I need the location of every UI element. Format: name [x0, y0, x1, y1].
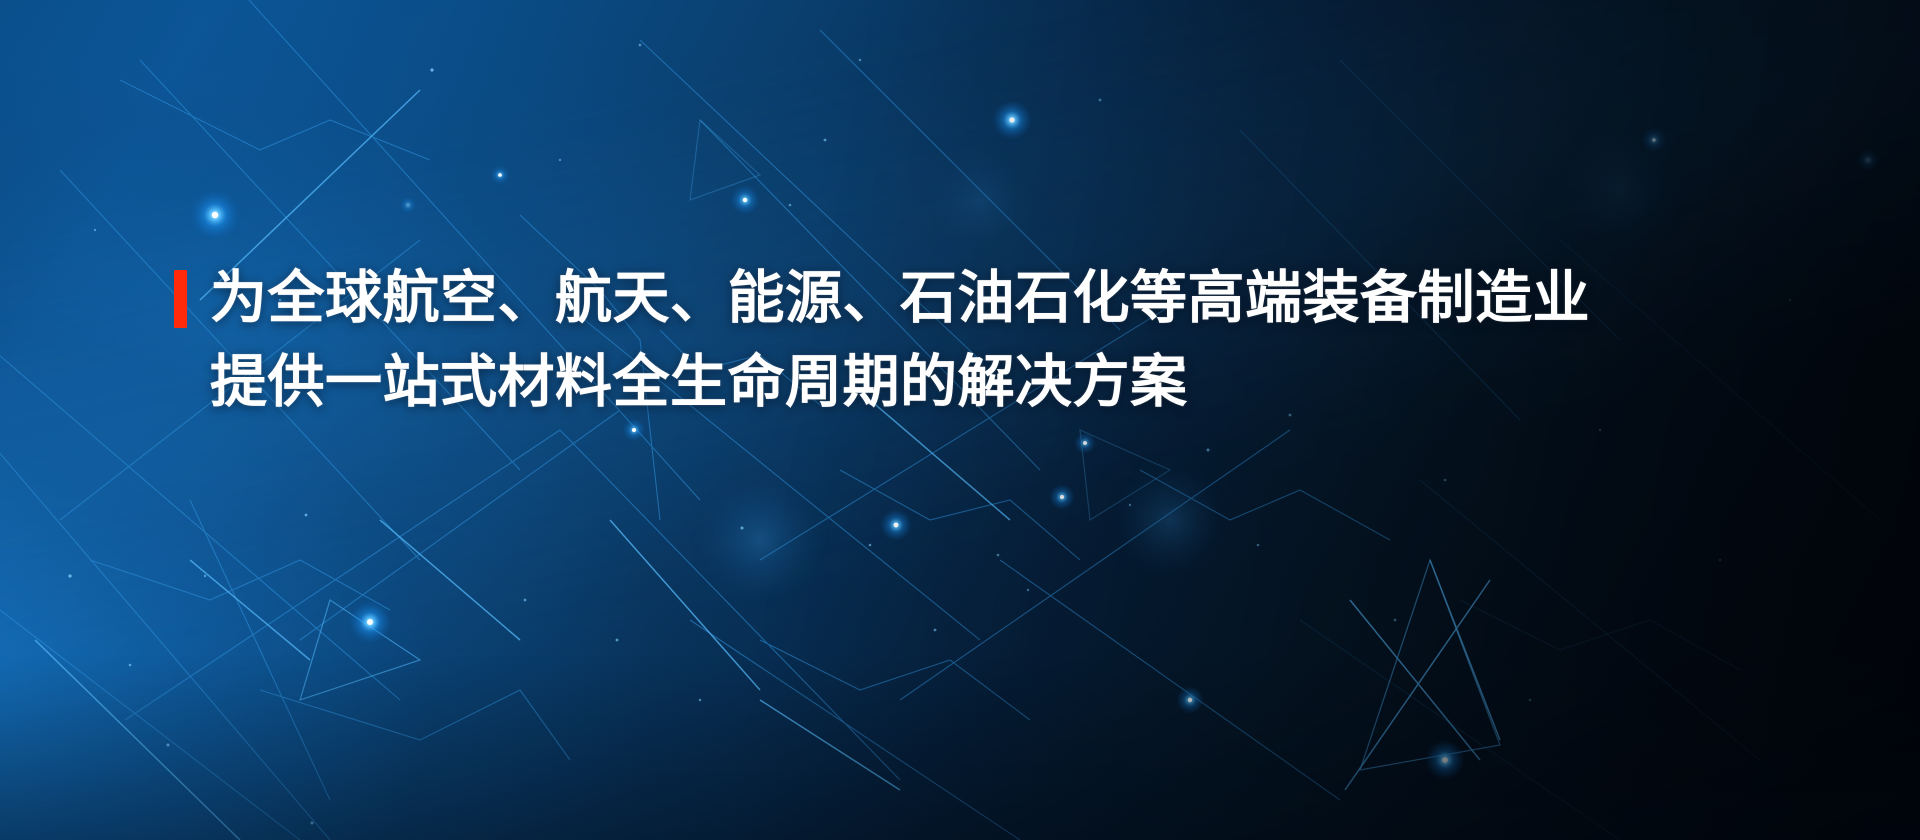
- headline-line-2-row: 提供一站式材料全生命周期的解决方案: [210, 340, 1710, 424]
- hero-banner: 为全球航空、航天、能源、石油石化等高端装备制造业 提供一站式材料全生命周期的解决…: [0, 0, 1920, 840]
- red-accent-bar: [174, 270, 187, 328]
- headline-line-2: 提供一站式材料全生命周期的解决方案: [210, 340, 1188, 424]
- headline-line-1: 为全球航空、航天、能源、石油石化等高端装备制造业: [210, 256, 1590, 340]
- headline-line-1-row: 为全球航空、航天、能源、石油石化等高端装备制造业: [210, 256, 1710, 340]
- hero-headline: 为全球航空、航天、能源、石油石化等高端装备制造业 提供一站式材料全生命周期的解决…: [210, 256, 1710, 424]
